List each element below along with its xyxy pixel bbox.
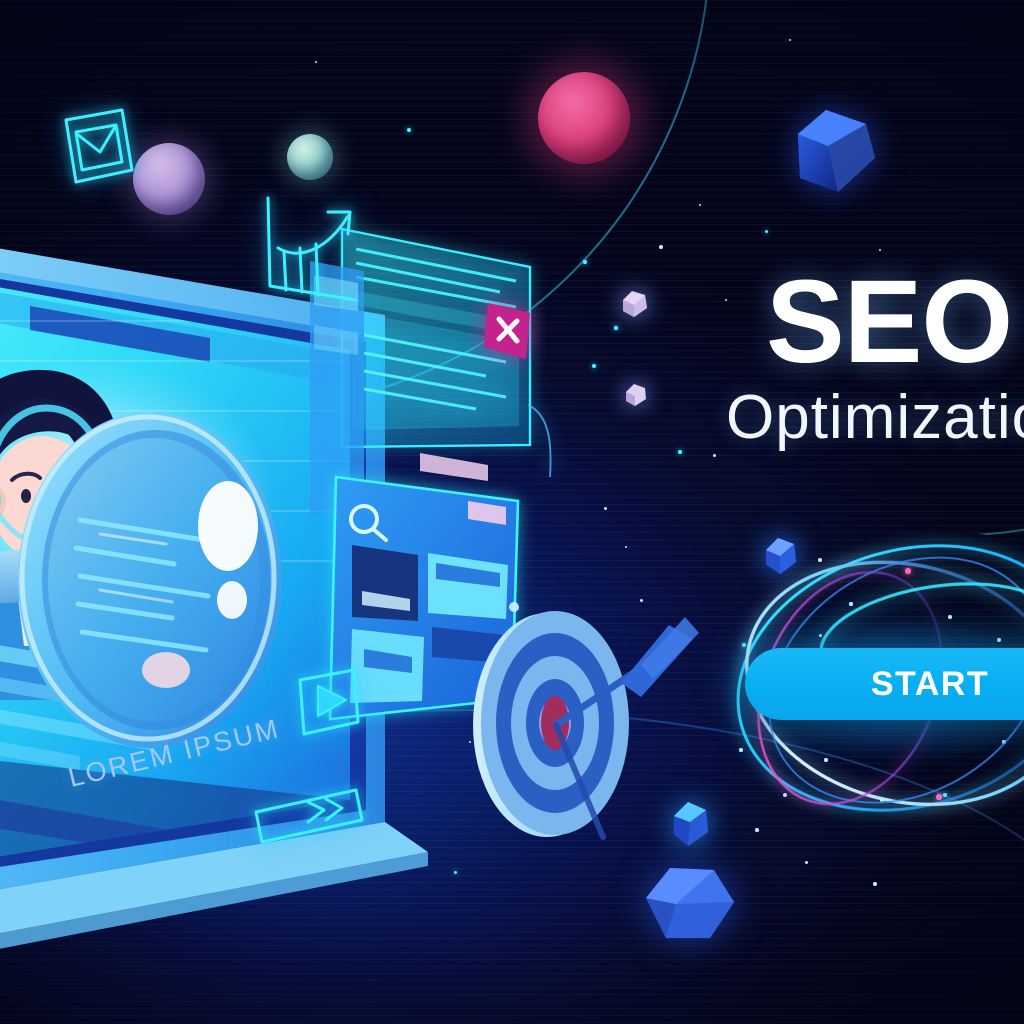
page-subtitle: Optimization bbox=[726, 385, 1024, 450]
crystal-shard-small-b bbox=[622, 382, 650, 408]
lens-highlight-large bbox=[198, 481, 258, 571]
asteroid-bottom-large bbox=[636, 858, 741, 948]
forward-chevrons-icon[interactable] bbox=[246, 780, 376, 860]
hero-copy: SEO Optimization bbox=[766, 268, 1024, 450]
magnifying-glass bbox=[0, 400, 360, 780]
star-37 bbox=[640, 599, 643, 602]
accent-chip-top bbox=[420, 453, 488, 481]
start-button-label: START bbox=[871, 665, 989, 704]
star-38 bbox=[625, 546, 628, 549]
star-7 bbox=[678, 450, 681, 453]
star-36 bbox=[713, 454, 716, 457]
mail-icon bbox=[50, 100, 150, 200]
start-button[interactable]: START bbox=[745, 648, 1024, 720]
asteroid-top-right bbox=[780, 100, 885, 200]
crystal-shard-small-a bbox=[618, 288, 652, 320]
lens-highlight-small bbox=[217, 581, 247, 619]
seo-landing-banner: LOREM IPSUM bbox=[0, 0, 1024, 1024]
growth-chart-icon bbox=[252, 190, 372, 310]
dartboard-target bbox=[455, 605, 705, 855]
planet-pink bbox=[538, 72, 630, 164]
page-title: SEO bbox=[766, 268, 1024, 377]
